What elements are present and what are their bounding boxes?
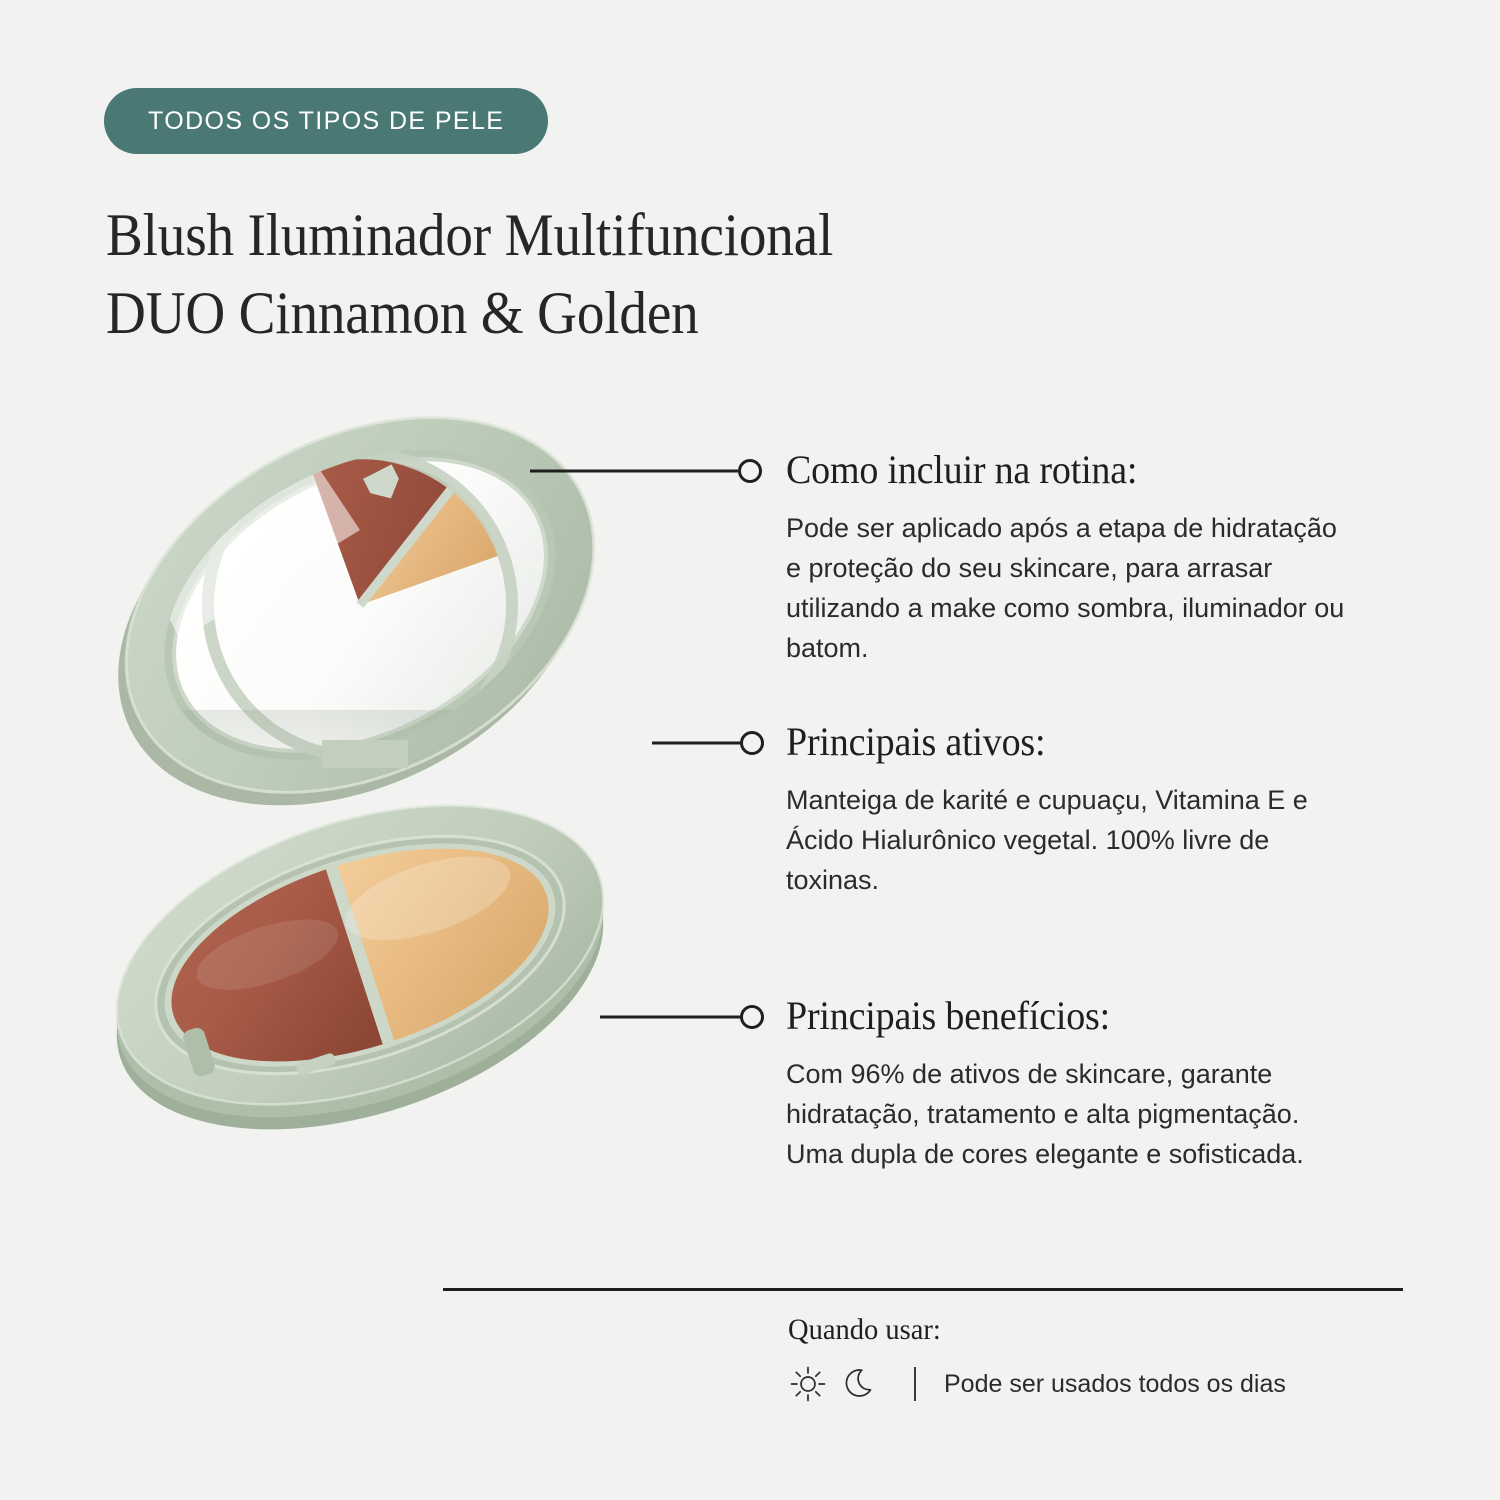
- footer-usage-text: Pode ser usados todos os dias: [944, 1367, 1286, 1401]
- section-benefits-heading: Principais benefícios:: [786, 992, 1328, 1040]
- connector-1-dot: [738, 459, 762, 483]
- connector-3-dot: [740, 1005, 764, 1029]
- section-actives: Principais ativos: Manteiga de karité e …: [786, 718, 1356, 900]
- connector-3-stroke: [600, 1016, 740, 1019]
- connector-line-2: [652, 730, 764, 756]
- section-routine-body: Pode ser aplicado após a etapa de hidrat…: [786, 508, 1356, 668]
- skin-type-badge: TODOS OS TIPOS DE PELE: [104, 88, 548, 154]
- product-title-line-1: Blush Iluminador Multifuncional: [106, 196, 989, 274]
- footer-usage-title: Quando usar:: [788, 1310, 1396, 1350]
- skin-type-badge-label: TODOS OS TIPOS DE PELE: [148, 107, 504, 136]
- connector-2-dot: [740, 731, 764, 755]
- connector-line-3: [600, 1004, 764, 1030]
- section-benefits: Principais benefícios: Com 96% de ativos…: [786, 992, 1356, 1174]
- page-title: Blush Iluminador Multifuncional DUO Cinn…: [106, 196, 1066, 352]
- section-routine-heading: Como incluir na rotina:: [786, 446, 1328, 494]
- infographic-canvas: TODOS OS TIPOS DE PELE Blush Iluminador …: [0, 0, 1500, 1500]
- footer-usage-row: Pode ser usados todos os dias: [788, 1364, 1428, 1404]
- moon-icon: [842, 1364, 882, 1404]
- section-actives-body: Manteiga de karité e cupuaçu, Vitamina E…: [786, 780, 1356, 900]
- section-actives-heading: Principais ativos:: [786, 718, 1328, 766]
- connector-2-stroke: [652, 742, 740, 745]
- connector-line-1: [530, 458, 762, 484]
- section-routine: Como incluir na rotina: Pode ser aplicad…: [786, 446, 1356, 668]
- sun-icon: [788, 1364, 828, 1404]
- connector-1-stroke: [530, 470, 738, 473]
- product-image: [60, 410, 720, 1150]
- footer-usage: Quando usar:: [788, 1310, 1428, 1404]
- section-benefits-body: Com 96% de ativos de skincare, garante h…: [786, 1054, 1356, 1174]
- footer-separator: [914, 1367, 916, 1401]
- compact-base: [79, 750, 641, 1150]
- footer-divider: [443, 1288, 1403, 1291]
- product-title-line-2: DUO Cinnamon & Golden: [106, 274, 989, 352]
